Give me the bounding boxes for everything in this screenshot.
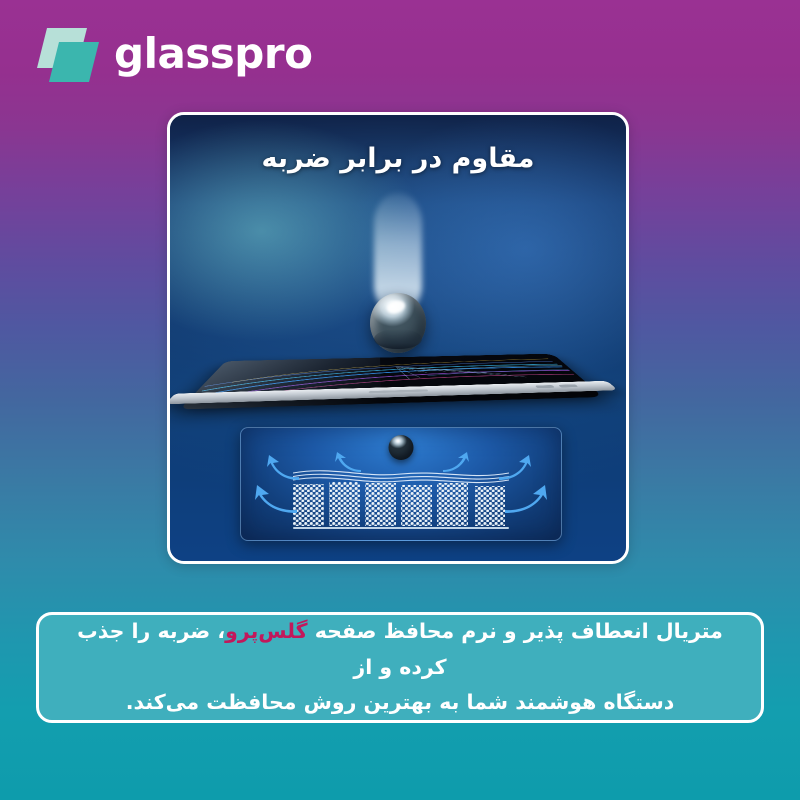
dispersion-arrow-left-lower-icon [255,484,299,514]
dispersion-arrow-center-right-icon [441,452,469,472]
caption-box: متریال انعطاف پذیر و نرم محافظ صفحه گلس‌… [36,612,764,723]
card-heading: مقاوم در برابر ضربه [170,143,626,174]
molecular-layer-icon [293,482,509,526]
brand-wordmark: glasspro [114,33,312,75]
dispersion-arrow-center-left-icon [335,452,363,472]
impact-absorption-diagram [240,427,562,541]
volume-button-up [558,384,578,387]
tablet-port [369,389,428,393]
diagram-steel-ball-icon [389,435,414,460]
dispersion-arrow-left-upper-icon [267,454,301,480]
caption-line1-before: متریال انعطاف پذیر و نرم محافظ صفحه [308,619,723,643]
diagram-base-line [293,527,509,529]
caption-brand-word: گلس‌پرو [225,619,307,643]
volume-button-down [535,385,555,388]
promo-banner: glasspro مقاوم در برابر ضربه [0,0,800,800]
caption-line2: دستگاه هوشمند شما به بهترین روش محافظت م… [126,690,675,714]
glasspro-logo-icon [40,24,100,84]
product-image-card: مقاوم در برابر ضربه [167,112,629,564]
brand-header: glasspro [40,24,312,84]
caption-text: متریال انعطاف پذیر و نرم محافظ صفحه گلس‌… [39,614,761,722]
dispersion-arrow-right-lower-icon [503,484,547,514]
dispersion-arrow-right-upper-icon [497,454,531,480]
